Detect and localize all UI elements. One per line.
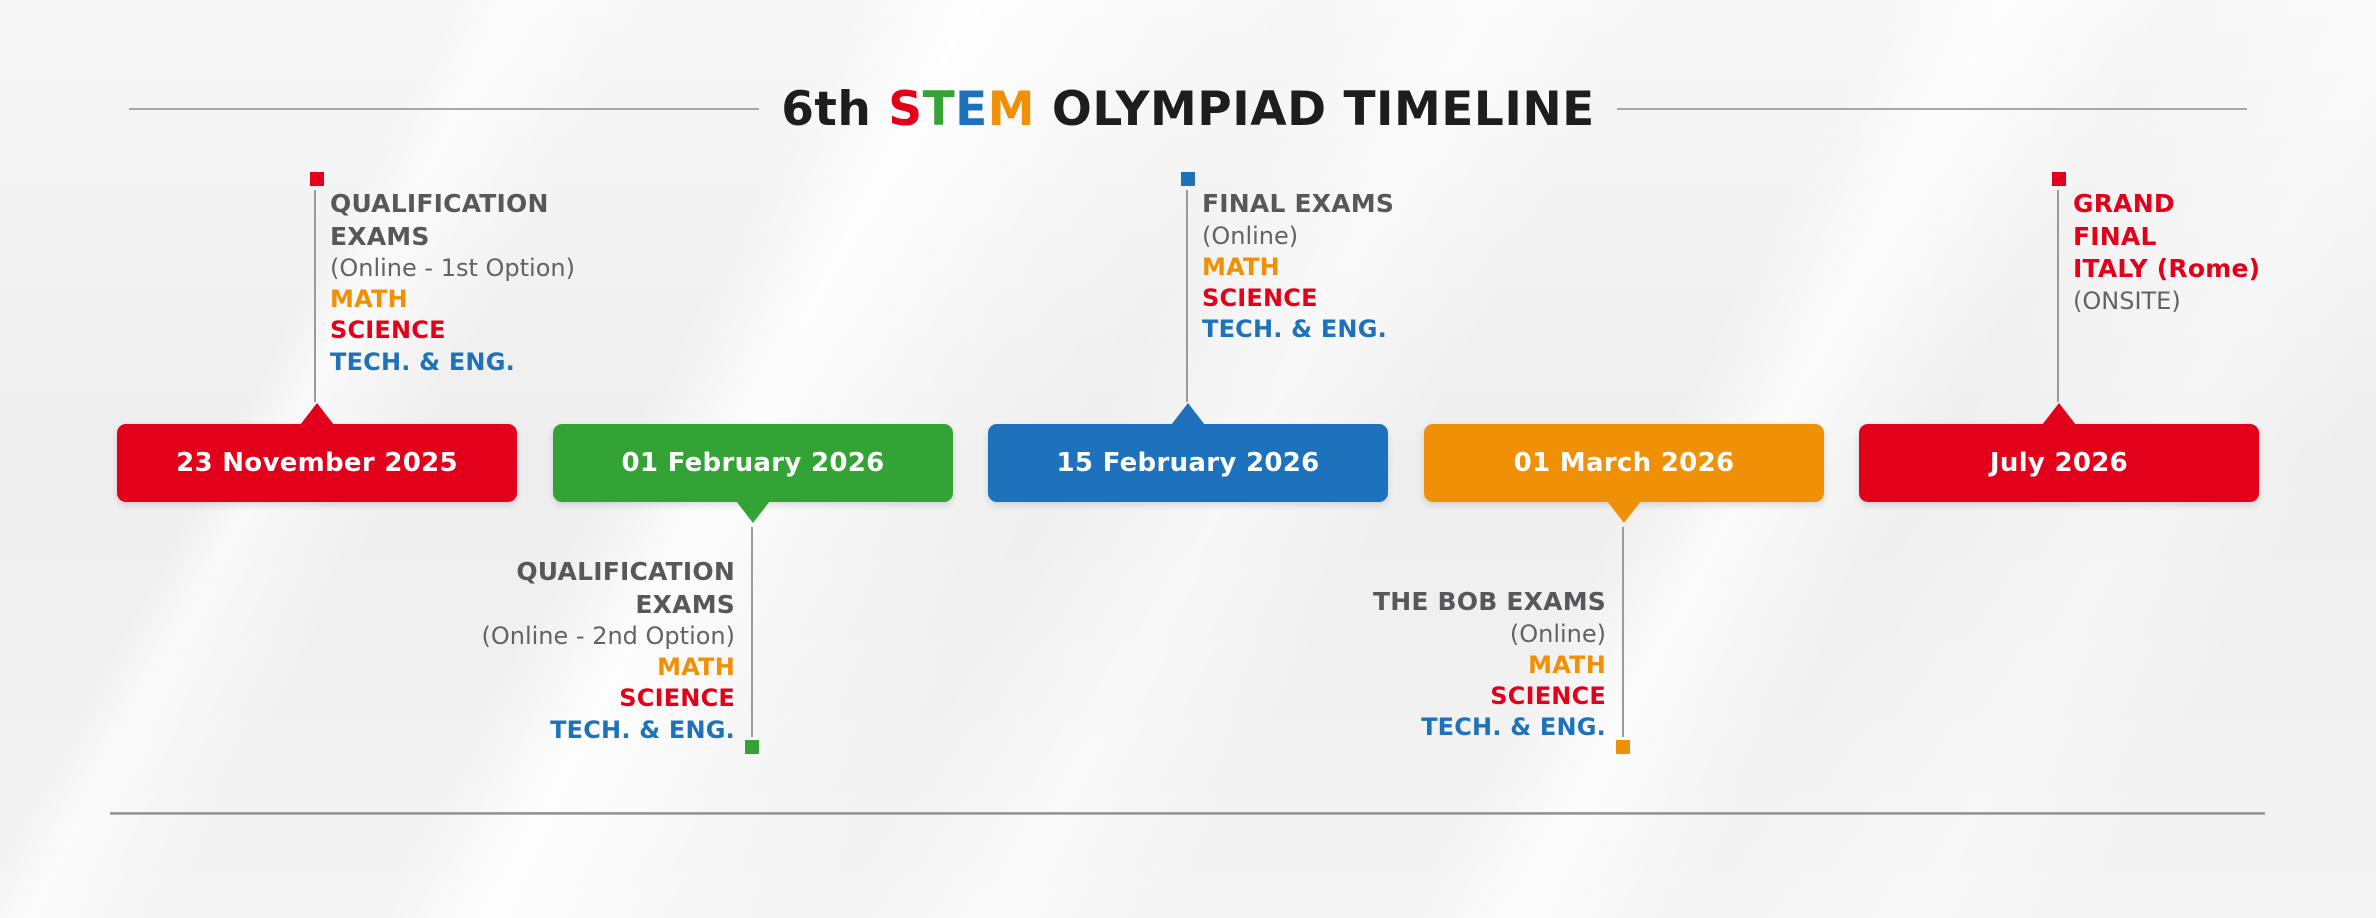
milestone-subject-2-math: MATH [300, 652, 735, 683]
milestone-mode-5: (ONSITE) [2073, 286, 2260, 317]
milestone-marker-2 [745, 740, 759, 754]
timeline-canvas: 6th STEM OLYMPIAD TIMELINE QUALIFICATION… [0, 0, 2376, 918]
milestone-details-3: FINAL EXAMS (Online) MATH SCIENCE TECH. … [1202, 188, 1394, 345]
milestone-subject-1-tech: TECH. & ENG. [330, 347, 575, 378]
milestone-connector-1 [314, 190, 316, 402]
milestone-marker-4 [1616, 740, 1630, 754]
milestone-marker-1 [310, 172, 324, 186]
milestone-details-5: GRAND FINAL ITALY (Rome) (ONSITE) [2073, 188, 2260, 317]
milestone-headline-5a: GRAND [2073, 188, 2260, 221]
milestone-date-bar-1[interactable]: 23 November 2025 [117, 424, 517, 502]
milestone-marker-3 [1181, 172, 1195, 186]
milestone-date-bar-3[interactable]: 15 February 2026 [988, 424, 1388, 502]
milestone-date-label-5: July 2026 [1990, 448, 2128, 478]
milestone-subject-4-science: SCIENCE [1180, 681, 1606, 712]
milestone-subject-3-math: MATH [1202, 252, 1394, 283]
milestone-subject-2-science: SCIENCE [300, 683, 735, 714]
milestone-details-2: QUALIFICATION EXAMS (Online - 2nd Option… [300, 556, 735, 746]
milestone-headline-1b: EXAMS [330, 221, 575, 254]
notch-up-icon-5 [2042, 403, 2076, 425]
milestone-date-label-3: 15 February 2026 [1056, 448, 1319, 478]
page-title-letter-s: S [888, 82, 922, 137]
notch-up-icon-1 [300, 403, 334, 425]
milestone-mode-4: (Online) [1180, 619, 1606, 650]
milestone-mode-3: (Online) [1202, 221, 1394, 252]
milestone-date-bar-4[interactable]: 01 March 2026 [1424, 424, 1824, 502]
milestone-headline-1a: QUALIFICATION [330, 188, 575, 221]
milestone-details-4: THE BOB EXAMS (Online) MATH SCIENCE TECH… [1180, 586, 1606, 743]
milestone-headline-2a: QUALIFICATION [300, 556, 735, 589]
notch-down-icon-2 [736, 501, 770, 523]
milestone-headline-3a: FINAL EXAMS [1202, 188, 1394, 221]
header-rule-left [129, 108, 759, 110]
milestone-subject-1-science: SCIENCE [330, 315, 575, 346]
milestone-date-label-4: 01 March 2026 [1514, 448, 1735, 478]
milestone-date-label-2: 01 February 2026 [621, 448, 884, 478]
page-title-letter-m: M [988, 82, 1035, 137]
footer-rule [110, 812, 2265, 815]
milestone-connector-3 [1186, 190, 1188, 402]
notch-down-icon-4 [1607, 501, 1641, 523]
milestone-details-1: QUALIFICATION EXAMS (Online - 1st Option… [330, 188, 575, 378]
milestone-headline-4a: THE BOB EXAMS [1180, 586, 1606, 619]
milestone-headline-5b: FINAL [2073, 221, 2260, 254]
page-title: 6th STEM OLYMPIAD TIMELINE [781, 82, 1595, 137]
page-title-suffix: OLYMPIAD TIMELINE [1035, 82, 1595, 137]
notch-up-icon-3 [1171, 403, 1205, 425]
page-title-letter-e: E [955, 82, 988, 137]
milestone-subject-1-math: MATH [330, 284, 575, 315]
milestone-subject-4-math: MATH [1180, 650, 1606, 681]
milestone-subject-3-science: SCIENCE [1202, 283, 1394, 314]
header-rule-right [1617, 108, 2247, 110]
milestone-headline-2b: EXAMS [300, 589, 735, 622]
milestone-headline-5c: ITALY (Rome) [2073, 253, 2260, 286]
milestone-mode-2: (Online - 2nd Option) [300, 621, 735, 652]
milestone-subject-3-tech: TECH. & ENG. [1202, 314, 1394, 345]
milestone-marker-5 [2052, 172, 2066, 186]
header: 6th STEM OLYMPIAD TIMELINE [0, 78, 2376, 140]
milestone-subject-2-tech: TECH. & ENG. [300, 715, 735, 746]
milestone-mode-1: (Online - 1st Option) [330, 253, 575, 284]
page-title-prefix: 6th [781, 82, 888, 137]
milestone-date-bar-5[interactable]: July 2026 [1859, 424, 2259, 502]
milestone-connector-4 [1622, 527, 1624, 737]
milestone-date-bar-2[interactable]: 01 February 2026 [553, 424, 953, 502]
page-title-letter-t: T [923, 82, 956, 137]
milestone-connector-2 [751, 527, 753, 737]
milestone-connector-5 [2057, 190, 2059, 402]
milestone-date-label-1: 23 November 2025 [176, 448, 458, 478]
milestone-subject-4-tech: TECH. & ENG. [1180, 712, 1606, 743]
